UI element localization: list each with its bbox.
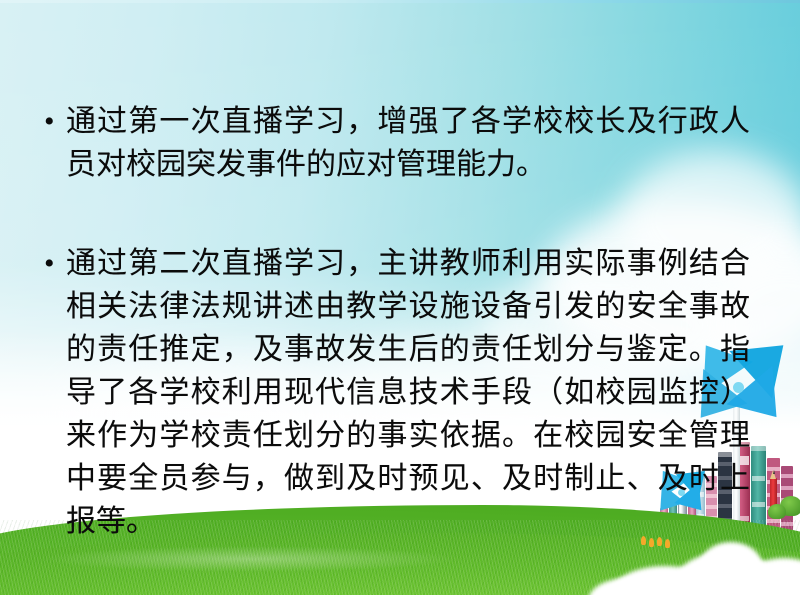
bullet-text-2: 通过第二次直播学习，主讲教师利用实际事例结合相关法律法规讲述由教学设施设备引发的… [66, 242, 750, 543]
bullet-item-1: • 通过第一次直播学习，增强了各学校校长及行政人员对校园突发事件的应对管理能力。 [40, 100, 750, 186]
bullet-marker-icon: • [40, 242, 66, 285]
bullet-marker-icon: • [40, 100, 66, 143]
bullet-text-1: 通过第一次直播学习，增强了各学校校长及行政人员对校园突发事件的应对管理能力。 [66, 100, 750, 186]
bullet-row: • 通过第二次直播学习，主讲教师利用实际事例结合相关法律法规讲述由教学设施设备引… [40, 242, 750, 543]
bullet-item-2: • 通过第二次直播学习，主讲教师利用实际事例结合相关法律法规讲述由教学设施设备引… [40, 242, 750, 543]
bullet-row: • 通过第一次直播学习，增强了各学校校长及行政人员对校园突发事件的应对管理能力。 [40, 100, 750, 186]
presentation-slide: • 通过第一次直播学习，增强了各学校校长及行政人员对校园突发事件的应对管理能力。… [0, 0, 800, 595]
slide-body: • 通过第一次直播学习，增强了各学校校长及行政人员对校园突发事件的应对管理能力。… [0, 0, 800, 595]
